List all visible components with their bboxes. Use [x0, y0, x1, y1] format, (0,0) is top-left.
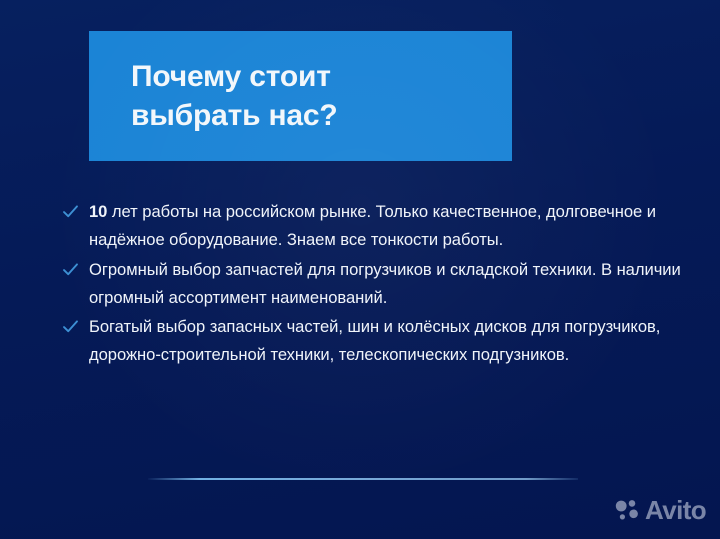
- avito-watermark-label: Avito: [645, 497, 706, 524]
- check-icon: [62, 261, 79, 278]
- avito-watermark: Avito: [614, 497, 706, 524]
- divider: [148, 478, 578, 480]
- list-item-text: 10 лет работы на российском рынке. Тольк…: [89, 198, 682, 255]
- page-title-line-2: выбрать нас?: [131, 96, 512, 135]
- list-item: Огромный выбор запчастей для погрузчиков…: [62, 256, 682, 313]
- list-item-body: Богатый выбор запасных частей, шин и кол…: [89, 317, 660, 364]
- title-block: Почему стоит выбрать нас?: [89, 31, 512, 161]
- page-title-line-1: Почему стоит: [131, 57, 512, 96]
- list-item-lead: 10: [89, 202, 107, 221]
- list-item-text: Богатый выбор запасных частей, шин и кол…: [89, 313, 682, 370]
- list-item: 10 лет работы на российском рынке. Тольк…: [62, 198, 682, 255]
- check-icon: [62, 318, 79, 335]
- list-item-body: лет работы на российском рынке. Только к…: [89, 202, 656, 249]
- list-item: Богатый выбор запасных частей, шин и кол…: [62, 313, 682, 370]
- check-icon: [62, 203, 79, 220]
- slide-canvas: Почему стоит выбрать нас? 10 лет работы …: [0, 0, 720, 539]
- benefits-list: 10 лет работы на российском рынке. Тольк…: [62, 198, 682, 371]
- list-item-text: Огромный выбор запчастей для погрузчиков…: [89, 256, 682, 313]
- avito-logo-icon: [614, 497, 641, 524]
- list-item-body: Огромный выбор запчастей для погрузчиков…: [89, 260, 681, 307]
